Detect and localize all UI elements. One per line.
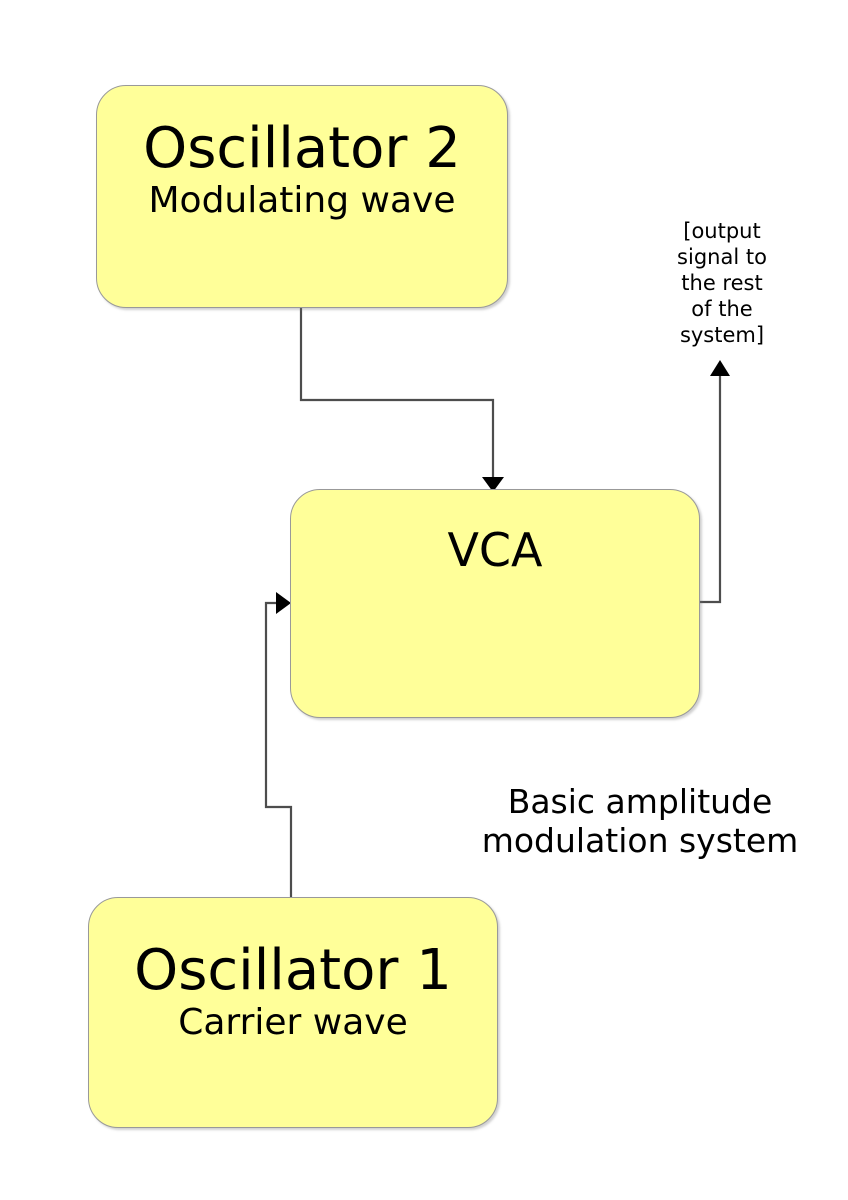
connector-osc2-to-vca — [301, 308, 504, 492]
node-vca-content: VCA — [291, 525, 699, 575]
output-signal-label-line-2: signal to — [660, 244, 784, 270]
diagram-caption-line-1: Basic amplitude — [430, 782, 848, 821]
output-signal-label-line-1: [output — [660, 218, 784, 244]
output-signal-label-line-5: system] — [660, 322, 784, 348]
output-signal-label: [output signal to the rest of the system… — [660, 218, 784, 348]
node-oscillator-1-title: Oscillator 1 — [89, 940, 497, 1002]
diagram-canvas: Oscillator 2 Modulating wave VCA Oscilla… — [0, 0, 848, 1200]
node-oscillator-2-subtitle: Modulating wave — [97, 180, 507, 222]
diagram-caption: Basic amplitude modulation system — [430, 782, 848, 860]
node-oscillator-2-title: Oscillator 2 — [97, 118, 507, 180]
node-oscillator-1-subtitle: Carrier wave — [89, 1002, 497, 1044]
node-oscillator-1-content: Oscillator 1 Carrier wave — [89, 940, 497, 1044]
node-vca[interactable]: VCA — [290, 489, 700, 718]
node-oscillator-2[interactable]: Oscillator 2 Modulating wave — [96, 85, 508, 308]
output-signal-label-line-3: the rest — [660, 270, 784, 296]
node-vca-title: VCA — [291, 525, 699, 575]
diagram-caption-line-2: modulation system — [430, 821, 848, 860]
connector-osc1-to-vca — [266, 592, 291, 897]
node-oscillator-2-content: Oscillator 2 Modulating wave — [97, 118, 507, 222]
output-signal-label-line-4: of the — [660, 296, 784, 322]
node-oscillator-1[interactable]: Oscillator 1 Carrier wave — [88, 897, 498, 1128]
connector-vca-to-output — [700, 360, 730, 602]
